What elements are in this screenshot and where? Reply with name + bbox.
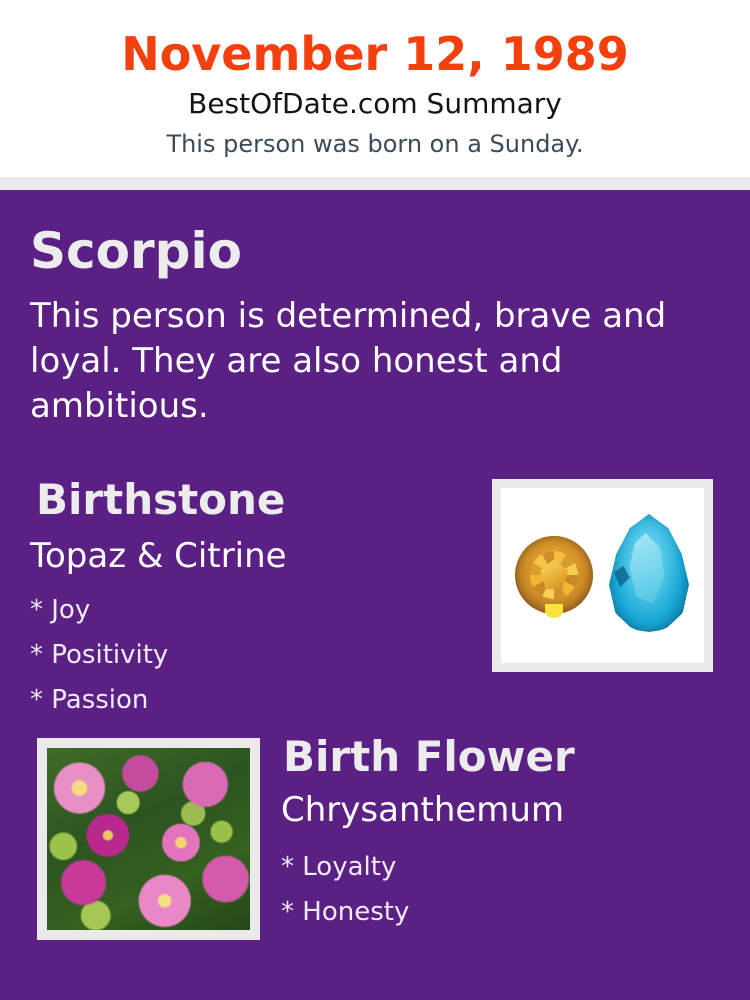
birth-flower-title: Birth Flower xyxy=(283,730,575,784)
list-item: * Passion xyxy=(30,678,168,723)
page-title-date: November 12, 1989 xyxy=(0,26,750,82)
birth-flower-traits-list: * Loyalty * Honesty xyxy=(281,845,409,935)
citrine-glint-icon xyxy=(545,604,563,618)
birthstone-name: Topaz & Citrine xyxy=(30,534,287,578)
list-item: * Joy xyxy=(30,588,168,633)
header-divider xyxy=(0,177,750,190)
born-day-line: This person was born on a Sunday. xyxy=(0,128,750,160)
zodiac-title: Scorpio xyxy=(30,222,242,280)
list-item: * Loyalty xyxy=(281,845,409,890)
list-item: * Honesty xyxy=(281,890,409,935)
main-content: Scorpio This person is determined, brave… xyxy=(0,190,750,1000)
birthstone-traits-list: * Joy * Positivity * Passion xyxy=(30,588,168,723)
topaz-gem-icon xyxy=(609,514,689,632)
birthstone-image-frame xyxy=(492,479,713,672)
summary-card: November 12, 1989 BestOfDate.com Summary… xyxy=(0,0,750,1000)
birthstone-photo xyxy=(501,488,704,663)
birth-flower-photo xyxy=(47,748,250,930)
list-item: * Positivity xyxy=(30,633,168,678)
zodiac-description: This person is determined, brave and loy… xyxy=(30,294,700,429)
birth-flower-image-frame xyxy=(37,738,260,940)
citrine-gem-icon xyxy=(515,536,593,614)
birthstone-title: Birthstone xyxy=(36,474,285,526)
site-name-subtitle: BestOfDate.com Summary xyxy=(0,86,750,122)
header: November 12, 1989 BestOfDate.com Summary… xyxy=(0,0,750,177)
birth-flower-name: Chrysanthemum xyxy=(281,788,564,832)
